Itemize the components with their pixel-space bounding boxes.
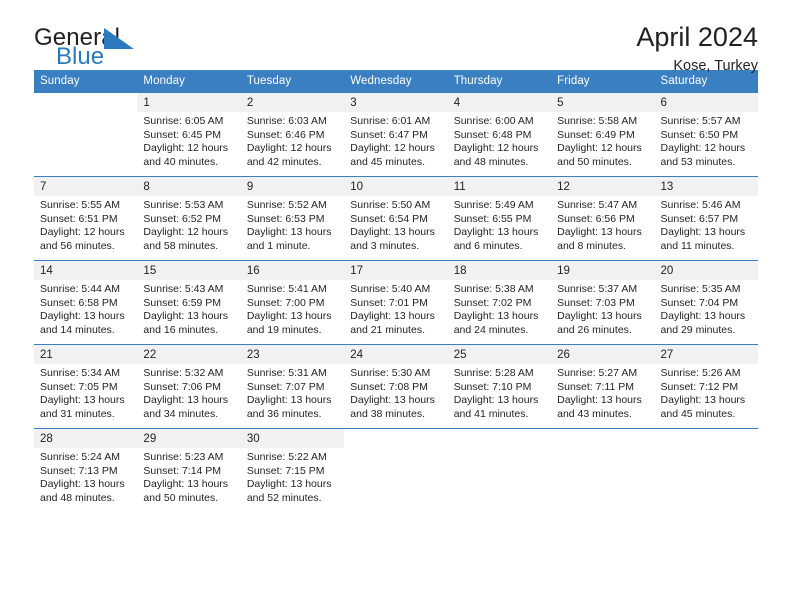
calendar-week-row: 28Sunrise: 5:24 AMSunset: 7:13 PMDayligh…: [34, 429, 758, 513]
calendar-cell-inner: 18Sunrise: 5:38 AMSunset: 7:02 PMDayligh…: [448, 261, 551, 344]
sunrise-time: Sunrise: 5:24 AM: [40, 451, 132, 465]
day-number: 19: [551, 261, 654, 280]
sunset-time: Sunset: 6:48 PM: [454, 129, 546, 143]
daylight-duration-line2: and 42 minutes.: [247, 156, 339, 170]
calendar-day-cell[interactable]: 29Sunrise: 5:23 AMSunset: 7:14 PMDayligh…: [137, 429, 240, 513]
day-number: 22: [137, 345, 240, 364]
calendar-table: Sunday Monday Tuesday Wednesday Thursday…: [34, 70, 758, 512]
day-number: 3: [344, 93, 447, 112]
daylight-duration-line2: and 43 minutes.: [557, 408, 649, 422]
daylight-duration-line1: Daylight: 13 hours: [454, 226, 546, 240]
day-number: 6: [655, 93, 758, 112]
calendar-day-cell[interactable]: 25Sunrise: 5:28 AMSunset: 7:10 PMDayligh…: [448, 345, 551, 429]
calendar-cell-inner: 9Sunrise: 5:52 AMSunset: 6:53 PMDaylight…: [241, 177, 344, 260]
calendar-cell-inner: [448, 429, 551, 512]
calendar-day-cell[interactable]: 28Sunrise: 5:24 AMSunset: 7:13 PMDayligh…: [34, 429, 137, 513]
calendar-day-cell[interactable]: 13Sunrise: 5:46 AMSunset: 6:57 PMDayligh…: [655, 177, 758, 261]
day-number: [448, 429, 551, 448]
day-number: 4: [448, 93, 551, 112]
calendar-cell-inner: 30Sunrise: 5:22 AMSunset: 7:15 PMDayligh…: [241, 429, 344, 512]
calendar-cell-inner: 8Sunrise: 5:53 AMSunset: 6:52 PMDaylight…: [137, 177, 240, 260]
sunset-time: Sunset: 6:54 PM: [350, 213, 442, 227]
daylight-duration-line1: Daylight: 13 hours: [40, 478, 132, 492]
daylight-duration-line1: Daylight: 13 hours: [247, 394, 339, 408]
day-number: 12: [551, 177, 654, 196]
daylight-duration-line2: and 3 minutes.: [350, 240, 442, 254]
day-details: Sunrise: 6:03 AMSunset: 6:46 PMDaylight:…: [241, 112, 344, 169]
calendar-cell-inner: [344, 429, 447, 512]
weekday-header-sunday: Sunday: [34, 70, 137, 93]
day-details: Sunrise: 5:26 AMSunset: 7:12 PMDaylight:…: [655, 364, 758, 421]
daylight-duration-line1: Daylight: 12 hours: [247, 142, 339, 156]
daylight-duration-line1: Daylight: 12 hours: [454, 142, 546, 156]
calendar-day-cell[interactable]: 20Sunrise: 5:35 AMSunset: 7:04 PMDayligh…: [655, 261, 758, 345]
sunset-time: Sunset: 6:59 PM: [143, 297, 235, 311]
daylight-duration-line1: Daylight: 13 hours: [143, 478, 235, 492]
calendar-week-row: 1Sunrise: 6:05 AMSunset: 6:45 PMDaylight…: [34, 93, 758, 177]
calendar-day-cell[interactable]: 19Sunrise: 5:37 AMSunset: 7:03 PMDayligh…: [551, 261, 654, 345]
day-number: 29: [137, 429, 240, 448]
day-details: Sunrise: 5:41 AMSunset: 7:00 PMDaylight:…: [241, 280, 344, 337]
day-details: Sunrise: 5:50 AMSunset: 6:54 PMDaylight:…: [344, 196, 447, 253]
calendar-cell-empty: [448, 429, 551, 513]
calendar-cell-inner: 29Sunrise: 5:23 AMSunset: 7:14 PMDayligh…: [137, 429, 240, 512]
calendar-cell-inner: 28Sunrise: 5:24 AMSunset: 7:13 PMDayligh…: [34, 429, 137, 512]
daylight-duration-line2: and 14 minutes.: [40, 324, 132, 338]
calendar-day-cell[interactable]: 24Sunrise: 5:30 AMSunset: 7:08 PMDayligh…: [344, 345, 447, 429]
daylight-duration-line1: Daylight: 13 hours: [350, 394, 442, 408]
sunset-time: Sunset: 6:45 PM: [143, 129, 235, 143]
sunrise-time: Sunrise: 5:53 AM: [143, 199, 235, 213]
day-details: Sunrise: 5:47 AMSunset: 6:56 PMDaylight:…: [551, 196, 654, 253]
calendar-day-cell[interactable]: 30Sunrise: 5:22 AMSunset: 7:15 PMDayligh…: [241, 429, 344, 513]
daylight-duration-line1: Daylight: 12 hours: [350, 142, 442, 156]
daylight-duration-line1: Daylight: 13 hours: [557, 310, 649, 324]
calendar-cell-inner: 2Sunrise: 6:03 AMSunset: 6:46 PMDaylight…: [241, 93, 344, 176]
title-block: April 2024 Kose, Turkey: [636, 22, 758, 77]
daylight-duration-line2: and 24 minutes.: [454, 324, 546, 338]
calendar-cell-inner: 25Sunrise: 5:28 AMSunset: 7:10 PMDayligh…: [448, 345, 551, 428]
daylight-duration-line2: and 50 minutes.: [143, 492, 235, 506]
sunset-time: Sunset: 6:57 PM: [661, 213, 753, 227]
daylight-duration-line1: Daylight: 13 hours: [350, 226, 442, 240]
day-number: 13: [655, 177, 758, 196]
daylight-duration-line1: Daylight: 13 hours: [557, 394, 649, 408]
sunrise-time: Sunrise: 6:05 AM: [143, 115, 235, 129]
calendar-day-cell[interactable]: 26Sunrise: 5:27 AMSunset: 7:11 PMDayligh…: [551, 345, 654, 429]
sunrise-time: Sunrise: 5:57 AM: [661, 115, 753, 129]
day-number: 30: [241, 429, 344, 448]
sunset-time: Sunset: 6:51 PM: [40, 213, 132, 227]
day-details: Sunrise: 5:57 AMSunset: 6:50 PMDaylight:…: [655, 112, 758, 169]
sunset-time: Sunset: 7:14 PM: [143, 465, 235, 479]
sunrise-time: Sunrise: 5:41 AM: [247, 283, 339, 297]
sunset-time: Sunset: 7:15 PM: [247, 465, 339, 479]
sunset-time: Sunset: 7:08 PM: [350, 381, 442, 395]
calendar-day-cell[interactable]: 7Sunrise: 5:55 AMSunset: 6:51 PMDaylight…: [34, 177, 137, 261]
sunset-time: Sunset: 7:03 PM: [557, 297, 649, 311]
calendar-cell-inner: 11Sunrise: 5:49 AMSunset: 6:55 PMDayligh…: [448, 177, 551, 260]
daylight-duration-line2: and 36 minutes.: [247, 408, 339, 422]
sunset-time: Sunset: 7:00 PM: [247, 297, 339, 311]
day-number: 11: [448, 177, 551, 196]
calendar-day-cell[interactable]: 27Sunrise: 5:26 AMSunset: 7:12 PMDayligh…: [655, 345, 758, 429]
sunset-time: Sunset: 7:12 PM: [661, 381, 753, 395]
day-details: Sunrise: 5:58 AMSunset: 6:49 PMDaylight:…: [551, 112, 654, 169]
daylight-duration-line2: and 29 minutes.: [661, 324, 753, 338]
day-details: Sunrise: 6:01 AMSunset: 6:47 PMDaylight:…: [344, 112, 447, 169]
calendar-day-cell[interactable]: 21Sunrise: 5:34 AMSunset: 7:05 PMDayligh…: [34, 345, 137, 429]
day-number: 16: [241, 261, 344, 280]
sunset-time: Sunset: 7:04 PM: [661, 297, 753, 311]
weekday-header-thursday: Thursday: [448, 70, 551, 93]
daylight-duration-line1: Daylight: 13 hours: [454, 394, 546, 408]
daylight-duration-line1: Daylight: 12 hours: [557, 142, 649, 156]
calendar-day-cell[interactable]: 6Sunrise: 5:57 AMSunset: 6:50 PMDaylight…: [655, 93, 758, 177]
calendar-day-cell[interactable]: 18Sunrise: 5:38 AMSunset: 7:02 PMDayligh…: [448, 261, 551, 345]
sunrise-time: Sunrise: 5:46 AM: [661, 199, 753, 213]
calendar-cell-inner: [34, 93, 137, 176]
calendar-day-cell[interactable]: 17Sunrise: 5:40 AMSunset: 7:01 PMDayligh…: [344, 261, 447, 345]
sunrise-time: Sunrise: 5:55 AM: [40, 199, 132, 213]
day-number: 1: [137, 93, 240, 112]
day-details: Sunrise: 5:52 AMSunset: 6:53 PMDaylight:…: [241, 196, 344, 253]
day-details: Sunrise: 5:38 AMSunset: 7:02 PMDaylight:…: [448, 280, 551, 337]
calendar-cell-inner: 23Sunrise: 5:31 AMSunset: 7:07 PMDayligh…: [241, 345, 344, 428]
calendar-day-cell[interactable]: 11Sunrise: 5:49 AMSunset: 6:55 PMDayligh…: [448, 177, 551, 261]
calendar-cell-inner: 6Sunrise: 5:57 AMSunset: 6:50 PMDaylight…: [655, 93, 758, 176]
sunset-time: Sunset: 6:50 PM: [661, 129, 753, 143]
calendar-day-cell[interactable]: 1Sunrise: 6:05 AMSunset: 6:45 PMDaylight…: [137, 93, 240, 177]
sunrise-time: Sunrise: 5:47 AM: [557, 199, 649, 213]
sunset-time: Sunset: 7:10 PM: [454, 381, 546, 395]
daylight-duration-line2: and 11 minutes.: [661, 240, 753, 254]
day-details: Sunrise: 5:46 AMSunset: 6:57 PMDaylight:…: [655, 196, 758, 253]
daylight-duration-line1: Daylight: 13 hours: [661, 226, 753, 240]
day-details: Sunrise: 5:44 AMSunset: 6:58 PMDaylight:…: [34, 280, 137, 337]
calendar-cell-inner: 16Sunrise: 5:41 AMSunset: 7:00 PMDayligh…: [241, 261, 344, 344]
calendar-cell-inner: 27Sunrise: 5:26 AMSunset: 7:12 PMDayligh…: [655, 345, 758, 428]
calendar-cell-inner: 10Sunrise: 5:50 AMSunset: 6:54 PMDayligh…: [344, 177, 447, 260]
calendar-day-cell[interactable]: 5Sunrise: 5:58 AMSunset: 6:49 PMDaylight…: [551, 93, 654, 177]
calendar-day-cell[interactable]: 2Sunrise: 6:03 AMSunset: 6:46 PMDaylight…: [241, 93, 344, 177]
calendar-cell-inner: 20Sunrise: 5:35 AMSunset: 7:04 PMDayligh…: [655, 261, 758, 344]
day-number: 20: [655, 261, 758, 280]
calendar-day-cell[interactable]: 22Sunrise: 5:32 AMSunset: 7:06 PMDayligh…: [137, 345, 240, 429]
sunrise-time: Sunrise: 5:28 AM: [454, 367, 546, 381]
sunrise-time: Sunrise: 5:49 AM: [454, 199, 546, 213]
day-details: Sunrise: 5:31 AMSunset: 7:07 PMDaylight:…: [241, 364, 344, 421]
day-number: 15: [137, 261, 240, 280]
weekday-header-wednesday: Wednesday: [344, 70, 447, 93]
blue-flag-triangle-icon: [104, 28, 134, 49]
brand-logo[interactable]: General Blue: [34, 26, 244, 72]
daylight-duration-line2: and 48 minutes.: [454, 156, 546, 170]
calendar-cell-inner: 14Sunrise: 5:44 AMSunset: 6:58 PMDayligh…: [34, 261, 137, 344]
sunrise-time: Sunrise: 5:58 AM: [557, 115, 649, 129]
sunrise-time: Sunrise: 5:52 AM: [247, 199, 339, 213]
weekday-header-monday: Monday: [137, 70, 240, 93]
day-details: Sunrise: 5:27 AMSunset: 7:11 PMDaylight:…: [551, 364, 654, 421]
day-number: 24: [344, 345, 447, 364]
daylight-duration-line2: and 58 minutes.: [143, 240, 235, 254]
weekday-header-tuesday: Tuesday: [241, 70, 344, 93]
day-details: Sunrise: 5:43 AMSunset: 6:59 PMDaylight:…: [137, 280, 240, 337]
sunrise-time: Sunrise: 5:43 AM: [143, 283, 235, 297]
daylight-duration-line1: Daylight: 13 hours: [143, 394, 235, 408]
daylight-duration-line1: Daylight: 13 hours: [247, 310, 339, 324]
sunset-time: Sunset: 6:55 PM: [454, 213, 546, 227]
daylight-duration-line2: and 41 minutes.: [454, 408, 546, 422]
daylight-duration-line1: Daylight: 12 hours: [143, 142, 235, 156]
calendar-cell-inner: 5Sunrise: 5:58 AMSunset: 6:49 PMDaylight…: [551, 93, 654, 176]
daylight-duration-line1: Daylight: 13 hours: [247, 478, 339, 492]
daylight-duration-line2: and 34 minutes.: [143, 408, 235, 422]
sunset-time: Sunset: 7:11 PM: [557, 381, 649, 395]
calendar-week-row: 7Sunrise: 5:55 AMSunset: 6:51 PMDaylight…: [34, 177, 758, 261]
calendar-day-cell[interactable]: 3Sunrise: 6:01 AMSunset: 6:47 PMDaylight…: [344, 93, 447, 177]
day-number: 26: [551, 345, 654, 364]
daylight-duration-line1: Daylight: 12 hours: [40, 226, 132, 240]
day-number: [655, 429, 758, 448]
day-number: 9: [241, 177, 344, 196]
day-number: 2: [241, 93, 344, 112]
daylight-duration-line1: Daylight: 13 hours: [661, 394, 753, 408]
day-details: Sunrise: 5:28 AMSunset: 7:10 PMDaylight:…: [448, 364, 551, 421]
daylight-duration-line2: and 56 minutes.: [40, 240, 132, 254]
day-number: [34, 93, 137, 112]
day-number: 7: [34, 177, 137, 196]
day-number: 8: [137, 177, 240, 196]
brand-name-blue: Blue: [56, 45, 104, 69]
daylight-duration-line2: and 52 minutes.: [247, 492, 339, 506]
day-number: 23: [241, 345, 344, 364]
sunset-time: Sunset: 7:06 PM: [143, 381, 235, 395]
daylight-duration-line2: and 21 minutes.: [350, 324, 442, 338]
daylight-duration-line1: Daylight: 13 hours: [40, 394, 132, 408]
sunrise-time: Sunrise: 5:27 AM: [557, 367, 649, 381]
day-number: 14: [34, 261, 137, 280]
day-details: Sunrise: 5:55 AMSunset: 6:51 PMDaylight:…: [34, 196, 137, 253]
day-details: Sunrise: 5:53 AMSunset: 6:52 PMDaylight:…: [137, 196, 240, 253]
sunrise-time: Sunrise: 5:32 AM: [143, 367, 235, 381]
sunrise-time: Sunrise: 5:22 AM: [247, 451, 339, 465]
sunset-time: Sunset: 6:58 PM: [40, 297, 132, 311]
day-details: Sunrise: 5:22 AMSunset: 7:15 PMDaylight:…: [241, 448, 344, 505]
sunrise-time: Sunrise: 6:03 AM: [247, 115, 339, 129]
daylight-duration-line2: and 19 minutes.: [247, 324, 339, 338]
daylight-duration-line2: and 6 minutes.: [454, 240, 546, 254]
calendar-day-cell[interactable]: 10Sunrise: 5:50 AMSunset: 6:54 PMDayligh…: [344, 177, 447, 261]
day-number: 5: [551, 93, 654, 112]
daylight-duration-line1: Daylight: 13 hours: [350, 310, 442, 324]
day-number: [344, 429, 447, 448]
calendar-day-cell[interactable]: 14Sunrise: 5:44 AMSunset: 6:58 PMDayligh…: [34, 261, 137, 345]
daylight-duration-line2: and 53 minutes.: [661, 156, 753, 170]
calendar-cell-empty: [344, 429, 447, 513]
daylight-duration-line2: and 38 minutes.: [350, 408, 442, 422]
sunrise-time: Sunrise: 6:01 AM: [350, 115, 442, 129]
page-header: General Blue April 2024 Kose, Turkey: [34, 0, 758, 70]
daylight-duration-line1: Daylight: 13 hours: [661, 310, 753, 324]
calendar-cell-empty: [655, 429, 758, 513]
sunrise-time: Sunrise: 5:50 AM: [350, 199, 442, 213]
sunset-time: Sunset: 7:02 PM: [454, 297, 546, 311]
daylight-duration-line1: Daylight: 13 hours: [454, 310, 546, 324]
sunrise-time: Sunrise: 5:34 AM: [40, 367, 132, 381]
day-details: Sunrise: 5:30 AMSunset: 7:08 PMDaylight:…: [344, 364, 447, 421]
day-number: 21: [34, 345, 137, 364]
calendar-cell-inner: 4Sunrise: 6:00 AMSunset: 6:48 PMDaylight…: [448, 93, 551, 176]
sunrise-time: Sunrise: 5:44 AM: [40, 283, 132, 297]
calendar-cell-empty: [34, 93, 137, 177]
calendar-cell-inner: 17Sunrise: 5:40 AMSunset: 7:01 PMDayligh…: [344, 261, 447, 344]
daylight-duration-line1: Daylight: 12 hours: [143, 226, 235, 240]
daylight-duration-line1: Daylight: 13 hours: [247, 226, 339, 240]
calendar-cell-inner: 26Sunrise: 5:27 AMSunset: 7:11 PMDayligh…: [551, 345, 654, 428]
day-details: Sunrise: 5:37 AMSunset: 7:03 PMDaylight:…: [551, 280, 654, 337]
day-number: 18: [448, 261, 551, 280]
calendar-week-row: 21Sunrise: 5:34 AMSunset: 7:05 PMDayligh…: [34, 345, 758, 429]
daylight-duration-line2: and 45 minutes.: [661, 408, 753, 422]
calendar-day-cell[interactable]: 15Sunrise: 5:43 AMSunset: 6:59 PMDayligh…: [137, 261, 240, 345]
location-subtitle: Kose, Turkey: [636, 55, 758, 77]
calendar-day-cell[interactable]: 8Sunrise: 5:53 AMSunset: 6:52 PMDaylight…: [137, 177, 240, 261]
sunset-time: Sunset: 6:46 PM: [247, 129, 339, 143]
daylight-duration-line2: and 40 minutes.: [143, 156, 235, 170]
sunrise-time: Sunrise: 5:38 AM: [454, 283, 546, 297]
daylight-duration-line2: and 31 minutes.: [40, 408, 132, 422]
day-number: 27: [655, 345, 758, 364]
day-details: Sunrise: 6:00 AMSunset: 6:48 PMDaylight:…: [448, 112, 551, 169]
calendar-cell-inner: [655, 429, 758, 512]
daylight-duration-line2: and 48 minutes.: [40, 492, 132, 506]
sunrise-time: Sunrise: 5:26 AM: [661, 367, 753, 381]
daylight-duration-line1: Daylight: 12 hours: [661, 142, 753, 156]
calendar-day-cell[interactable]: 16Sunrise: 5:41 AMSunset: 7:00 PMDayligh…: [241, 261, 344, 345]
sunrise-time: Sunrise: 5:35 AM: [661, 283, 753, 297]
day-number: 17: [344, 261, 447, 280]
calendar-cell-inner: 15Sunrise: 5:43 AMSunset: 6:59 PMDayligh…: [137, 261, 240, 344]
calendar-cell-inner: 21Sunrise: 5:34 AMSunset: 7:05 PMDayligh…: [34, 345, 137, 428]
calendar-cell-inner: 19Sunrise: 5:37 AMSunset: 7:03 PMDayligh…: [551, 261, 654, 344]
day-details: Sunrise: 5:32 AMSunset: 7:06 PMDaylight:…: [137, 364, 240, 421]
daylight-duration-line2: and 8 minutes.: [557, 240, 649, 254]
daylight-duration-line1: Daylight: 13 hours: [143, 310, 235, 324]
calendar-cell-inner: 12Sunrise: 5:47 AMSunset: 6:56 PMDayligh…: [551, 177, 654, 260]
calendar-cell-empty: [551, 429, 654, 513]
day-details: Sunrise: 5:23 AMSunset: 7:14 PMDaylight:…: [137, 448, 240, 505]
sunrise-time: Sunrise: 5:40 AM: [350, 283, 442, 297]
page-title: April 2024: [636, 22, 758, 52]
calendar-day-cell[interactable]: 9Sunrise: 5:52 AMSunset: 6:53 PMDaylight…: [241, 177, 344, 261]
daylight-duration-line1: Daylight: 13 hours: [557, 226, 649, 240]
sunset-time: Sunset: 7:07 PM: [247, 381, 339, 395]
daylight-duration-line2: and 1 minute.: [247, 240, 339, 254]
calendar-cell-inner: 7Sunrise: 5:55 AMSunset: 6:51 PMDaylight…: [34, 177, 137, 260]
sunset-time: Sunset: 7:01 PM: [350, 297, 442, 311]
day-details: Sunrise: 5:49 AMSunset: 6:55 PMDaylight:…: [448, 196, 551, 253]
calendar-cell-inner: 13Sunrise: 5:46 AMSunset: 6:57 PMDayligh…: [655, 177, 758, 260]
sunset-time: Sunset: 6:49 PM: [557, 129, 649, 143]
day-number: 10: [344, 177, 447, 196]
calendar-cell-inner: 3Sunrise: 6:01 AMSunset: 6:47 PMDaylight…: [344, 93, 447, 176]
sunrise-time: Sunrise: 5:31 AM: [247, 367, 339, 381]
day-number: 25: [448, 345, 551, 364]
calendar-cell-inner: 22Sunrise: 5:32 AMSunset: 7:06 PMDayligh…: [137, 345, 240, 428]
calendar-week-row: 14Sunrise: 5:44 AMSunset: 6:58 PMDayligh…: [34, 261, 758, 345]
daylight-duration-line1: Daylight: 13 hours: [40, 310, 132, 324]
day-number: 28: [34, 429, 137, 448]
day-details: Sunrise: 5:35 AMSunset: 7:04 PMDaylight:…: [655, 280, 758, 337]
sunrise-time: Sunrise: 5:23 AM: [143, 451, 235, 465]
day-details: Sunrise: 5:40 AMSunset: 7:01 PMDaylight:…: [344, 280, 447, 337]
sunrise-time: Sunrise: 5:30 AM: [350, 367, 442, 381]
calendar-day-cell[interactable]: 4Sunrise: 6:00 AMSunset: 6:48 PMDaylight…: [448, 93, 551, 177]
day-details: Sunrise: 6:05 AMSunset: 6:45 PMDaylight:…: [137, 112, 240, 169]
daylight-duration-line2: and 45 minutes.: [350, 156, 442, 170]
day-number: [551, 429, 654, 448]
calendar-body: 1Sunrise: 6:05 AMSunset: 6:45 PMDaylight…: [34, 93, 758, 512]
day-details: Sunrise: 5:24 AMSunset: 7:13 PMDaylight:…: [34, 448, 137, 505]
daylight-duration-line2: and 26 minutes.: [557, 324, 649, 338]
sunset-time: Sunset: 6:53 PM: [247, 213, 339, 227]
calendar-day-cell[interactable]: 23Sunrise: 5:31 AMSunset: 7:07 PMDayligh…: [241, 345, 344, 429]
day-details: Sunrise: 5:34 AMSunset: 7:05 PMDaylight:…: [34, 364, 137, 421]
calendar-page: General Blue April 2024 Kose, Turkey Sun…: [0, 0, 792, 612]
calendar-cell-inner: 1Sunrise: 6:05 AMSunset: 6:45 PMDaylight…: [137, 93, 240, 176]
sunrise-time: Sunrise: 5:37 AM: [557, 283, 649, 297]
calendar-cell-inner: [551, 429, 654, 512]
sunset-time: Sunset: 7:05 PM: [40, 381, 132, 395]
calendar-day-cell[interactable]: 12Sunrise: 5:47 AMSunset: 6:56 PMDayligh…: [551, 177, 654, 261]
sunset-time: Sunset: 6:56 PM: [557, 213, 649, 227]
sunset-time: Sunset: 6:52 PM: [143, 213, 235, 227]
sunrise-time: Sunrise: 6:00 AM: [454, 115, 546, 129]
calendar-cell-inner: 24Sunrise: 5:30 AMSunset: 7:08 PMDayligh…: [344, 345, 447, 428]
sunset-time: Sunset: 7:13 PM: [40, 465, 132, 479]
daylight-duration-line2: and 50 minutes.: [557, 156, 649, 170]
sunset-time: Sunset: 6:47 PM: [350, 129, 442, 143]
daylight-duration-line2: and 16 minutes.: [143, 324, 235, 338]
